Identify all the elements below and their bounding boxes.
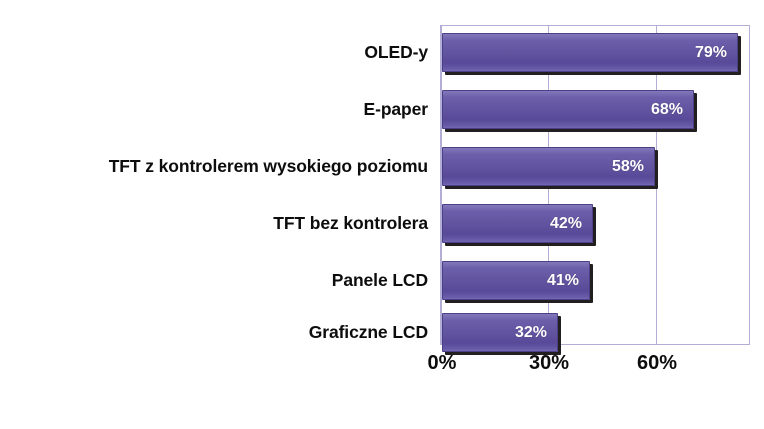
bars-layer: 79% 68% 58% 42% 41% 32% (441, 25, 751, 345)
category-axis-labels: OLED-y E-paper TFT z kontrolerem wysokie… (0, 25, 434, 345)
bar-value-label: 58% (612, 158, 654, 176)
bar-tft-high-controller[interactable]: 58% (442, 147, 655, 186)
category-label: E-paper (364, 90, 428, 129)
category-label: OLED-y (364, 33, 428, 72)
xtick-label-0: 0% (428, 352, 457, 375)
bar-value-label: 42% (550, 215, 592, 233)
category-label: TFT z kontrolerem wysokiego poziomu (109, 147, 428, 186)
xtick-label-30: 30% (529, 352, 569, 375)
bar-lcd-panels[interactable]: 41% (442, 261, 590, 300)
category-label: Panele LCD (332, 261, 428, 300)
bar-value-label: 41% (547, 272, 589, 290)
bar-value-label: 79% (695, 44, 737, 62)
bar-oled[interactable]: 79% (442, 33, 738, 72)
bar-chart: OLED-y E-paper TFT z kontrolerem wysokie… (0, 0, 764, 429)
bar-tft-no-controller[interactable]: 42% (442, 204, 593, 243)
category-label: TFT bez kontrolera (273, 204, 428, 243)
bar-graphic-lcd[interactable]: 32% (442, 313, 558, 352)
bar-value-label: 32% (515, 324, 557, 342)
bar-value-label: 68% (651, 101, 693, 119)
xtick-label-60: 60% (637, 352, 677, 375)
bar-epaper[interactable]: 68% (442, 90, 694, 129)
x-axis-labels: 0% 30% 60% (0, 352, 764, 384)
category-label: Graficzne LCD (309, 313, 428, 352)
